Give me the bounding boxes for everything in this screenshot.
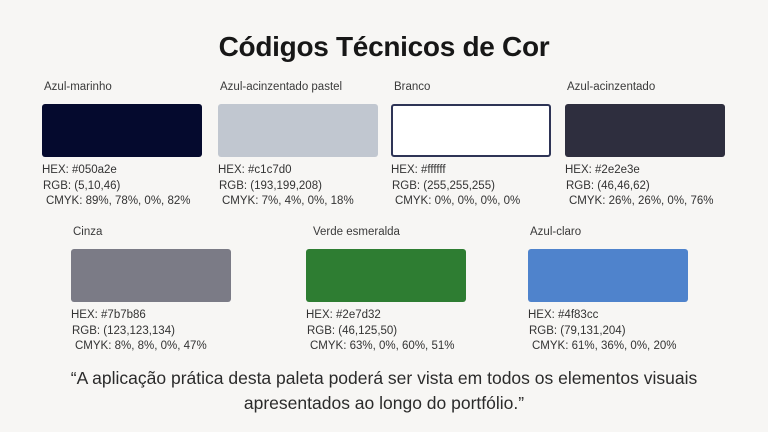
rgb-value: RGB: (5,10,46) bbox=[43, 179, 202, 195]
color-swatch[interactable] bbox=[42, 104, 202, 157]
swatch-card: BrancoHEX: #ffffffRGB: (255,255,255)CMYK… bbox=[394, 80, 430, 94]
swatch-codes: HEX: #2e7d32RGB: (46,125,50)CMYK: 63%, 0… bbox=[306, 308, 466, 355]
cmyk-value: CMYK: 89%, 78%, 0%, 82% bbox=[46, 194, 202, 210]
color-swatch[interactable] bbox=[528, 249, 688, 302]
hex-value: HEX: #7b7b86 bbox=[71, 308, 231, 324]
swatch-name-label: Azul-claro bbox=[530, 225, 581, 239]
rgb-value: RGB: (46,125,50) bbox=[307, 324, 466, 340]
cmyk-value: CMYK: 0%, 0%, 0%, 0% bbox=[395, 194, 551, 210]
hex-value: HEX: #050a2e bbox=[42, 163, 202, 179]
cmyk-value: CMYK: 63%, 0%, 60%, 51% bbox=[310, 339, 466, 355]
swatch-codes: HEX: #7b7b86RGB: (123,123,134)CMYK: 8%, … bbox=[71, 308, 231, 355]
swatch-chip-wrap: HEX: #2e2e3eRGB: (46,46,62)CMYK: 26%, 26… bbox=[565, 100, 725, 210]
rgb-value: RGB: (123,123,134) bbox=[72, 324, 231, 340]
rgb-value: RGB: (255,255,255) bbox=[392, 179, 551, 195]
footer-caption: “A aplicação prática desta paleta poderá… bbox=[34, 366, 734, 416]
swatch-codes: HEX: #c1c7d0RGB: (193,199,208)CMYK: 7%, … bbox=[218, 163, 378, 210]
swatch-codes: HEX: #050a2eRGB: (5,10,46)CMYK: 89%, 78%… bbox=[42, 163, 202, 210]
swatch-chip-wrap: HEX: #7b7b86RGB: (123,123,134)CMYK: 8%, … bbox=[71, 245, 231, 355]
swatch-name-label: Azul-marinho bbox=[44, 80, 112, 94]
rgb-value: RGB: (79,131,204) bbox=[529, 324, 688, 340]
swatch-card: Azul-marinhoHEX: #050a2eRGB: (5,10,46)CM… bbox=[44, 80, 112, 94]
swatch-name-label: Verde esmeralda bbox=[313, 225, 400, 239]
swatch-codes: HEX: #ffffffRGB: (255,255,255)CMYK: 0%, … bbox=[391, 163, 551, 210]
cmyk-value: CMYK: 7%, 4%, 0%, 18% bbox=[222, 194, 378, 210]
color-swatch[interactable] bbox=[218, 104, 378, 157]
color-swatch[interactable] bbox=[306, 249, 466, 302]
swatch-name-label: Azul-acinzentado bbox=[567, 80, 655, 94]
swatch-name-label: Branco bbox=[394, 80, 430, 94]
swatch-chip-wrap: HEX: #ffffffRGB: (255,255,255)CMYK: 0%, … bbox=[391, 100, 551, 210]
swatch-card: Azul-acinzentadoHEX: #2e2e3eRGB: (46,46,… bbox=[567, 80, 655, 94]
hex-value: HEX: #c1c7d0 bbox=[218, 163, 378, 179]
rgb-value: RGB: (46,46,62) bbox=[566, 179, 725, 195]
color-swatch[interactable] bbox=[565, 104, 725, 157]
hex-value: HEX: #2e2e3e bbox=[565, 163, 725, 179]
color-swatch[interactable] bbox=[71, 249, 231, 302]
swatch-codes: HEX: #2e2e3eRGB: (46,46,62)CMYK: 26%, 26… bbox=[565, 163, 725, 210]
cmyk-value: CMYK: 26%, 26%, 0%, 76% bbox=[569, 194, 725, 210]
rgb-value: RGB: (193,199,208) bbox=[219, 179, 378, 195]
swatch-chip-wrap: HEX: #c1c7d0RGB: (193,199,208)CMYK: 7%, … bbox=[218, 100, 378, 210]
swatch-chip-wrap: HEX: #2e7d32RGB: (46,125,50)CMYK: 63%, 0… bbox=[306, 245, 466, 355]
swatch-name-label: Cinza bbox=[73, 225, 102, 239]
color-codes-page: Códigos Técnicos de Cor Azul-marinhoHEX:… bbox=[0, 0, 768, 432]
hex-value: HEX: #ffffff bbox=[391, 163, 551, 179]
swatch-card: Verde esmeraldaHEX: #2e7d32RGB: (46,125,… bbox=[313, 225, 400, 239]
swatch-chip-wrap: HEX: #4f83ccRGB: (79,131,204)CMYK: 61%, … bbox=[528, 245, 688, 355]
cmyk-value: CMYK: 8%, 8%, 0%, 47% bbox=[75, 339, 231, 355]
swatch-chip-wrap: HEX: #050a2eRGB: (5,10,46)CMYK: 89%, 78%… bbox=[42, 100, 202, 210]
color-swatch[interactable] bbox=[391, 104, 551, 157]
hex-value: HEX: #4f83cc bbox=[528, 308, 688, 324]
hex-value: HEX: #2e7d32 bbox=[306, 308, 466, 324]
swatch-codes: HEX: #4f83ccRGB: (79,131,204)CMYK: 61%, … bbox=[528, 308, 688, 355]
page-title: Códigos Técnicos de Cor bbox=[0, 30, 768, 64]
swatch-card: Azul-claroHEX: #4f83ccRGB: (79,131,204)C… bbox=[530, 225, 581, 239]
cmyk-value: CMYK: 61%, 36%, 0%, 20% bbox=[532, 339, 688, 355]
swatch-name-label: Azul-acinzentado pastel bbox=[220, 80, 342, 94]
swatch-card: CinzaHEX: #7b7b86RGB: (123,123,134)CMYK:… bbox=[73, 225, 102, 239]
swatch-card: Azul-acinzentado pastelHEX: #c1c7d0RGB: … bbox=[220, 80, 342, 94]
